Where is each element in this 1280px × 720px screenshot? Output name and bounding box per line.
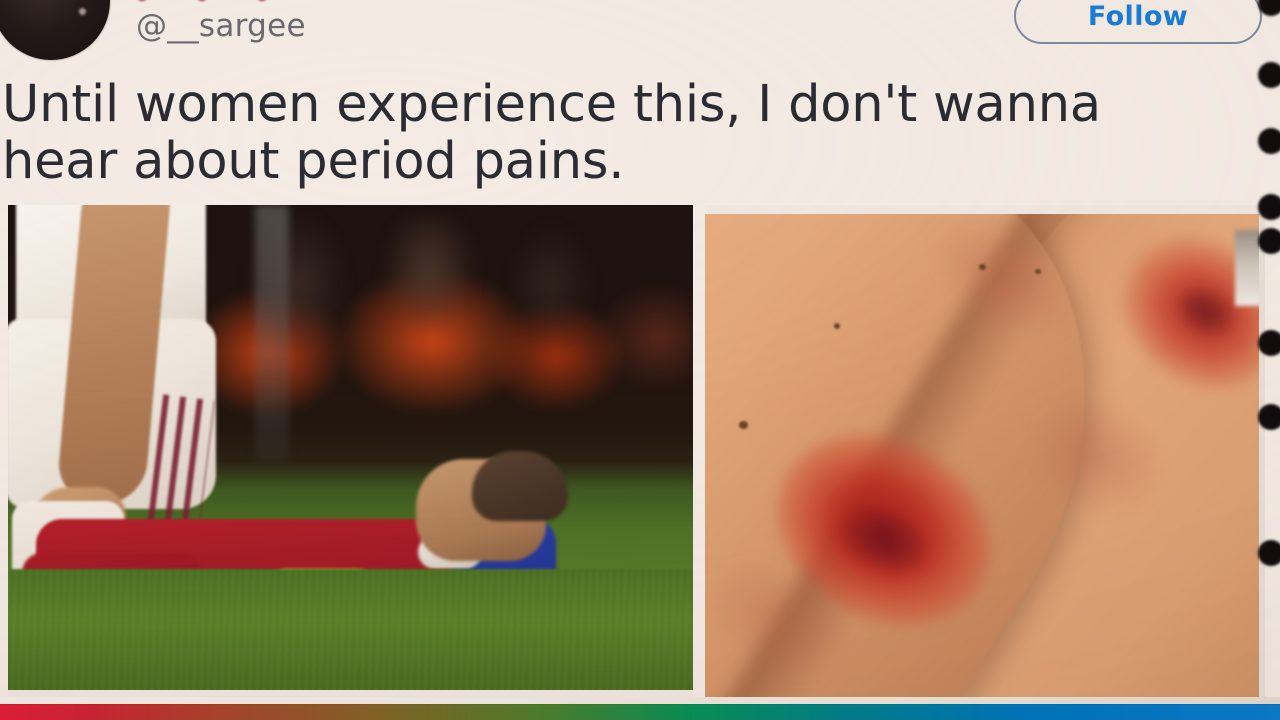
- tweet-text-line-2: hear about period pains.: [2, 133, 1280, 190]
- strip-highlight: [0, 697, 1280, 704]
- photo-bottom-edge: [8, 690, 693, 697]
- emoji-fragment-icon: [256, 0, 268, 1]
- avatar[interactable]: [0, 0, 110, 60]
- follow-button[interactable]: Follow: [1014, 0, 1262, 44]
- screenshot-root: @__sargee Follow Until women experience …: [0, 0, 1280, 720]
- stadium-post: [255, 205, 289, 461]
- bottom-color-strip: [0, 704, 1280, 720]
- display-name-cropped: [136, 0, 396, 4]
- football-injury-photo[interactable]: 8: [8, 205, 693, 697]
- bruised-legs-photo[interactable]: [705, 205, 1265, 697]
- emoji-fragment-icon: [196, 0, 208, 1]
- tweet-text-line-1: Until women experience this, I don't wan…: [2, 75, 1101, 134]
- tweet-text: Until women experience this, I don't wan…: [2, 76, 1280, 190]
- tweet-media-grid: 8: [0, 205, 1280, 697]
- skin-mole: [834, 323, 840, 329]
- account-handle[interactable]: @__sargee: [136, 8, 306, 44]
- tweet-card: @__sargee Follow Until women experience …: [0, 0, 1280, 705]
- photo-right-edge: [1259, 205, 1265, 697]
- grass-pitch: [8, 569, 693, 697]
- emoji-fragment-icon: [136, 0, 148, 1]
- photo-top-edge: [705, 205, 1265, 214]
